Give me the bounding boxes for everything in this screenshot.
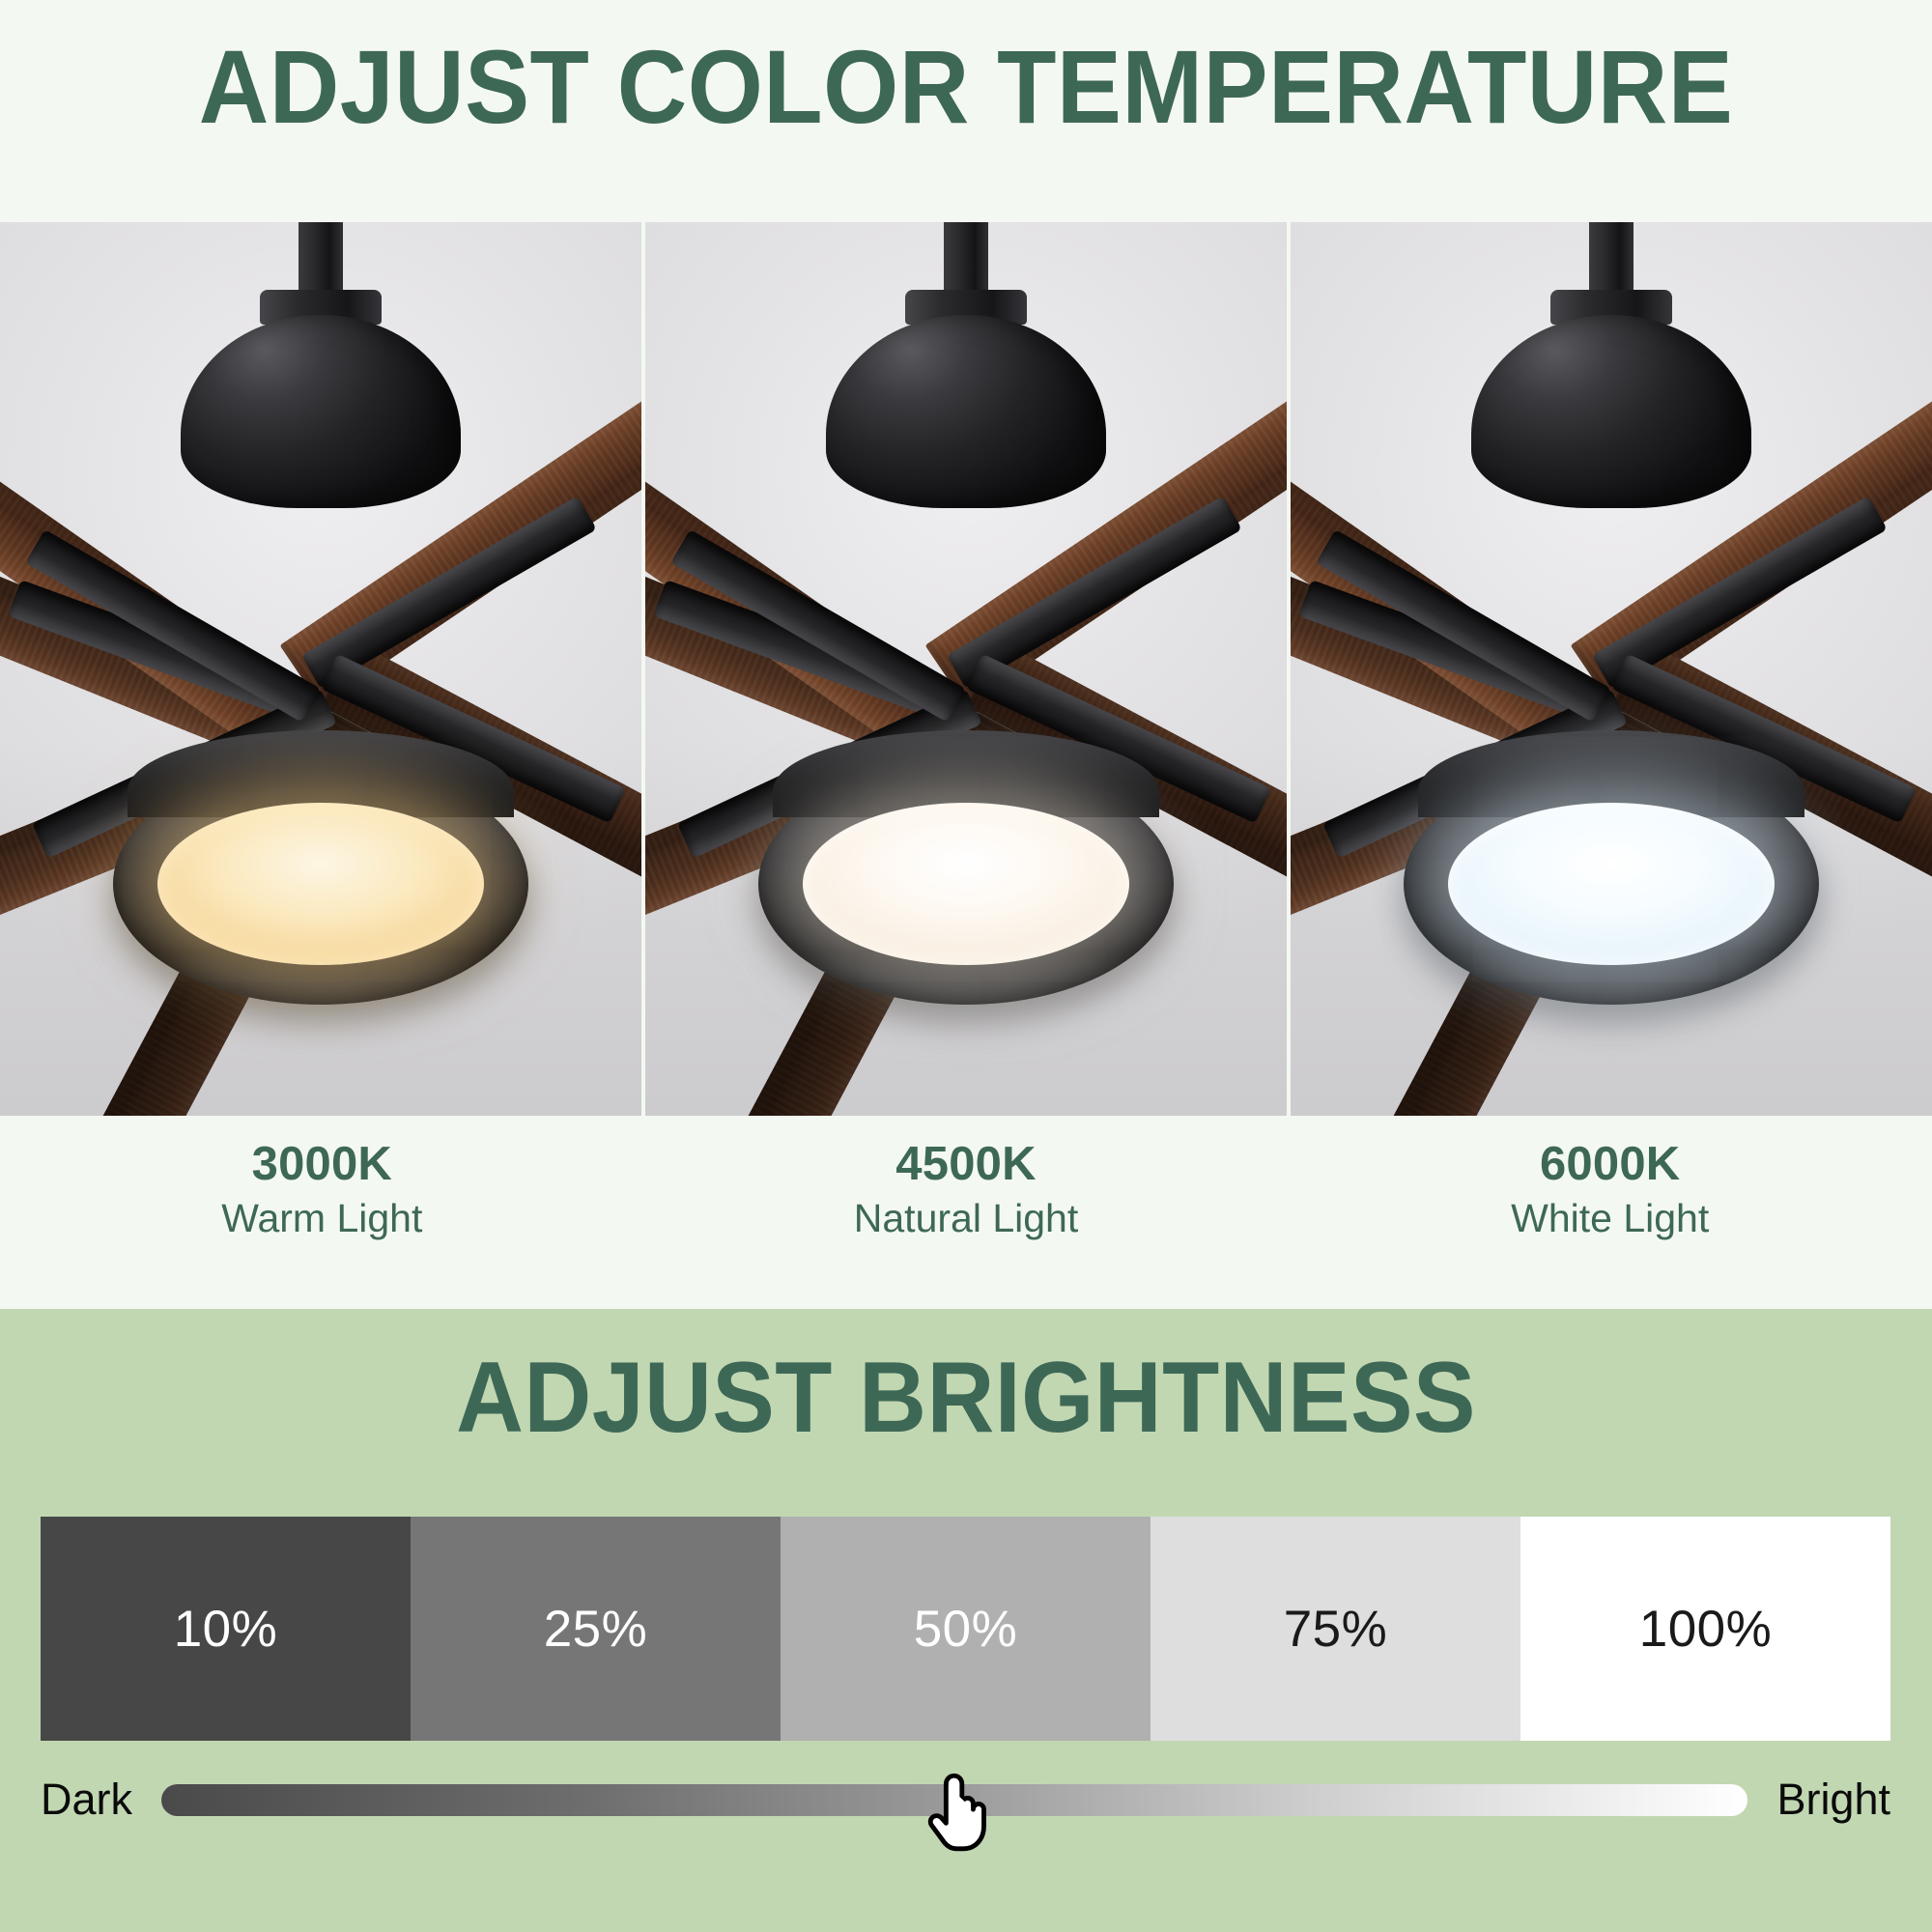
fan-light-housing [113, 763, 528, 1005]
fan-light-lens [803, 803, 1129, 965]
brightness-percent-label: 100% [1639, 1600, 1773, 1659]
ceiling-fan-illustration [2, 222, 639, 1116]
fan-light-lens [1448, 803, 1775, 965]
kelvin-value: 3000K [0, 1137, 644, 1193]
caption-natural: 4500K Natural Light [644, 1116, 1289, 1309]
temperature-captions: 3000K Warm Light 4500K Natural Light 600… [0, 1116, 1932, 1309]
brightness-percent-label: 50% [914, 1600, 1018, 1659]
brightness-swatch[interactable]: 10% [41, 1517, 411, 1741]
fan-motor-housing [826, 315, 1106, 508]
fan-photo-white [1291, 222, 1932, 1116]
brightness-swatch[interactable]: 25% [411, 1517, 781, 1741]
pointing-hand-cursor-icon[interactable] [926, 1773, 986, 1854]
color-temperature-heading: ADJUST COLOR TEMPERATURE [68, 35, 1864, 139]
brightness-heading: ADJUST BRIGHTNESS [68, 1348, 1864, 1448]
fan-light-lens [157, 803, 484, 965]
brightness-swatch[interactable]: 100% [1520, 1517, 1890, 1741]
kelvin-value: 6000K [1288, 1137, 1932, 1193]
fan-photo-natural [645, 222, 1287, 1116]
brightness-section: ADJUST BRIGHTNESS 10% 25% 50% 75% 100% D… [0, 1309, 1932, 1932]
fan-motor-housing [1471, 315, 1751, 508]
fan-downrod [298, 222, 343, 299]
fan-downrod [944, 222, 988, 299]
slider-label-bright: Bright [1776, 1775, 1890, 1825]
fan-motor-housing [181, 315, 461, 508]
brightness-slider-row: Dark Bright [41, 1771, 1890, 1829]
light-type-label: Natural Light [644, 1193, 1289, 1244]
brightness-slider-track[interactable] [161, 1784, 1747, 1816]
brightness-swatch[interactable]: 75% [1151, 1517, 1520, 1741]
brightness-percent-label: 10% [174, 1600, 278, 1659]
color-temperature-section: ADJUST COLOR TEMPERATURE [0, 0, 1932, 1309]
ceiling-fan-illustration [647, 222, 1285, 1116]
slider-label-dark: Dark [41, 1775, 132, 1825]
light-type-label: White Light [1288, 1193, 1932, 1244]
fan-light-housing [1404, 763, 1819, 1005]
brightness-swatch-row: 10% 25% 50% 75% 100% [41, 1517, 1890, 1741]
fan-light-housing [758, 763, 1174, 1005]
fan-photo-warm [0, 222, 641, 1116]
brightness-swatch[interactable]: 50% [781, 1517, 1151, 1741]
kelvin-value: 4500K [644, 1137, 1289, 1193]
ceiling-fan-illustration [1293, 222, 1930, 1116]
infographic-page: ADJUST COLOR TEMPERATURE [0, 0, 1932, 1932]
fan-photo-strip [0, 222, 1932, 1116]
brightness-percent-label: 25% [544, 1600, 648, 1659]
brightness-percent-label: 75% [1284, 1600, 1388, 1659]
fan-downrod [1589, 222, 1634, 299]
light-type-label: Warm Light [0, 1193, 644, 1244]
caption-white: 6000K White Light [1288, 1116, 1932, 1309]
caption-warm: 3000K Warm Light [0, 1116, 644, 1309]
